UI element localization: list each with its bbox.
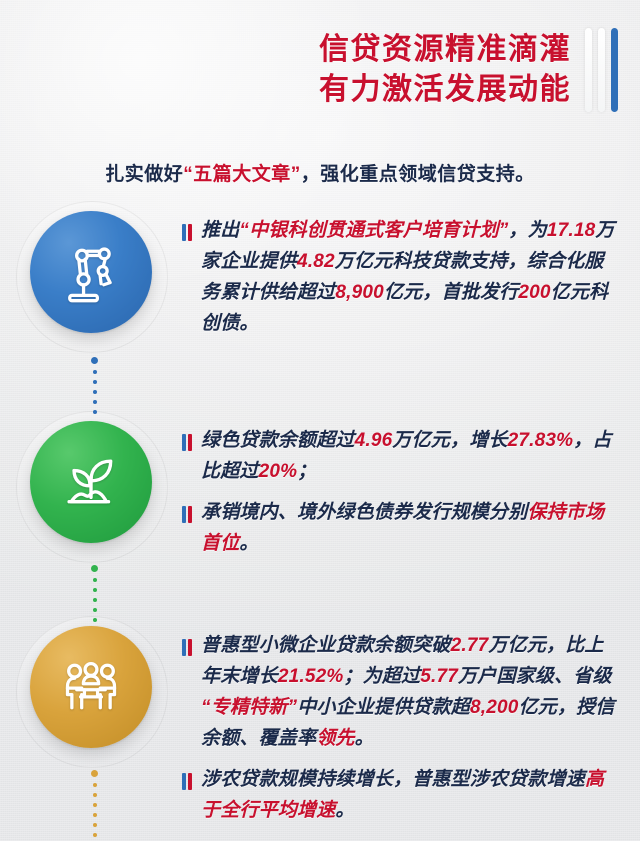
connector-dot — [93, 588, 97, 592]
text-plain: 推出 — [201, 220, 239, 241]
title-block: 信贷资源精准滴灌 有力激活发展动能 — [319, 30, 571, 110]
connector-tech — [91, 357, 98, 420]
title-accent-bars — [585, 28, 622, 112]
text-highlight: 200 — [518, 282, 550, 303]
connector-dot — [93, 400, 97, 404]
connector-dot — [93, 783, 97, 787]
infographic-poster: 信贷资源精准滴灌 有力激活发展动能 扎实做好“五篇大文章”，强化重点领域信贷支持… — [0, 0, 640, 841]
subtitle-highlight: “五篇大文章” — [183, 164, 301, 185]
connector-dot — [93, 578, 97, 582]
medallion-technology — [30, 211, 152, 333]
bullet-marker-blue — [182, 639, 186, 656]
section-green: 绿色贷款余额超过4.96万亿元，增长27.83%，占比超过20%； 承销境内、境… — [0, 415, 640, 559]
medal-wrap-technology — [0, 205, 182, 333]
medal-wrap-inclusive — [0, 620, 182, 748]
text-highlight: “中银科创贯通式客户培育计划” — [239, 220, 508, 241]
bullet-marker — [182, 773, 192, 790]
text-highlight: 4.96 — [355, 430, 393, 451]
connector-dot — [91, 770, 98, 777]
text-plain: 万户国家级、省级 — [458, 666, 612, 687]
bullet-item: 普惠型小微企业贷款余额突破2.77万亿元，比上年末增长21.52%；为超过5.7… — [182, 630, 622, 754]
timeline: 推出“中银科创贯通式客户培育计划”，为17.18万家企业提供4.82万亿元科技贷… — [0, 205, 640, 841]
bullet-text: 推出“中银科创贯通式客户培育计划”，为17.18万家企业提供4.82万亿元科技贷… — [201, 215, 622, 339]
bullet-text: 承销境内、境外绿色债券发行规模分别保持市场首位。 — [201, 497, 622, 559]
bullet-item: 推出“中银科创贯通式客户培育计划”，为17.18万家企业提供4.82万亿元科技贷… — [182, 215, 622, 339]
bar-light-1 — [585, 28, 592, 112]
bullet-text: 绿色贷款余额超过4.96万亿元，增长27.83%，占比超过20%； — [201, 425, 622, 487]
bullet-marker — [182, 506, 192, 523]
text-plain: 万亿元，增长 — [392, 430, 507, 451]
bullet-text: 涉农贷款规模持续增长，普惠型涉农贷款增速高于全行平均增速。 — [201, 764, 622, 826]
bullet-marker-blue — [182, 773, 186, 790]
title-line-1: 信贷资源精准滴灌 — [319, 30, 571, 70]
content-technology: 推出“中银科创贯通式客户培育计划”，为17.18万家企业提供4.82万亿元科技贷… — [182, 205, 640, 339]
text-plain: 承销境内、境外绿色债券发行规模分别 — [201, 502, 527, 523]
text-plain: 普惠型小微企业贷款余额突破 — [201, 635, 451, 656]
text-plain: ，为 — [508, 220, 546, 241]
content-green: 绿色贷款余额超过4.96万亿元，增长27.83%，占比超过20%； 承销境内、境… — [182, 415, 640, 559]
text-plain: 亿元，首批发行 — [384, 282, 518, 303]
subtitle: 扎实做好“五篇大文章”，强化重点领域信贷支持。 — [0, 160, 640, 190]
bullet-marker-red — [188, 506, 192, 523]
bullet-marker-blue — [182, 506, 186, 523]
connector-dot — [93, 833, 97, 837]
connector-dot — [93, 803, 97, 807]
bullet-text: 普惠型小微企业贷款余额突破2.77万亿元，比上年末增长21.52%；为超过5.7… — [201, 630, 622, 754]
connector-dot — [93, 813, 97, 817]
bullet-marker-blue — [182, 224, 186, 241]
sprout-icon — [56, 447, 126, 517]
subtitle-prefix: 扎实做好 — [105, 164, 183, 185]
connector-gold — [91, 770, 98, 841]
text-highlight: 领先 — [316, 728, 354, 749]
connector-dot — [91, 357, 98, 364]
connector-dot — [93, 370, 97, 374]
text-highlight: 20% — [259, 461, 298, 482]
medal-wrap-green — [0, 415, 182, 543]
bullet-marker-blue — [182, 434, 186, 451]
subtitle-suffix: ，强化重点领域信贷支持。 — [301, 164, 535, 185]
people-around-table-icon — [56, 652, 126, 722]
connector-dot — [93, 823, 97, 827]
bullet-marker — [182, 224, 192, 241]
text-plain: 。 — [239, 533, 258, 554]
text-highlight: 17.18 — [547, 220, 596, 241]
bar-light-2 — [598, 28, 605, 112]
connector-dot — [93, 380, 97, 384]
bullet-item: 涉农贷款规模持续增长，普惠型涉农贷款增速高于全行平均增速。 — [182, 764, 622, 826]
text-highlight: 8,200 — [470, 697, 519, 718]
text-plain: 中小企业提供贷款超 — [297, 697, 470, 718]
bullet-marker-red — [188, 773, 192, 790]
text-plain: ；为超过 — [343, 666, 420, 687]
connector-dot — [91, 565, 98, 572]
text-plain: 。 — [355, 728, 374, 749]
connector-green — [91, 565, 98, 628]
bar-accent — [611, 28, 618, 112]
connector-dot — [93, 618, 97, 622]
bullet-item: 承销境内、境外绿色债券发行规模分别保持市场首位。 — [182, 497, 622, 559]
text-highlight: 21.52% — [278, 666, 344, 687]
text-highlight: “专精特新” — [201, 697, 297, 718]
connector-dot — [93, 598, 97, 602]
poster-header: 信贷资源精准滴灌 有力激活发展动能 — [319, 28, 622, 112]
bullet-marker-red — [188, 639, 192, 656]
medallion-inclusive — [30, 626, 152, 748]
text-highlight: 8,900 — [335, 282, 384, 303]
section-technology: 推出“中银科创贯通式客户培育计划”，为17.18万家企业提供4.82万亿元科技贷… — [0, 205, 640, 339]
text-plain: 。 — [335, 800, 354, 821]
text-highlight: 2.77 — [451, 635, 489, 656]
text-plain: ； — [297, 461, 316, 482]
bullet-marker — [182, 434, 192, 451]
medallion-green — [30, 421, 152, 543]
bullet-marker-red — [188, 224, 192, 241]
bullet-marker — [182, 639, 192, 656]
connector-dot — [93, 410, 97, 414]
text-plain: 涉农贷款规模持续增长，普惠型涉农贷款增速 — [201, 769, 585, 790]
content-inclusive: 普惠型小微企业贷款余额突破2.77万亿元，比上年末增长21.52%；为超过5.7… — [182, 620, 640, 826]
text-highlight: 27.83% — [508, 430, 574, 451]
connector-dot — [93, 793, 97, 797]
connector-dot — [93, 390, 97, 394]
text-highlight: 5.77 — [420, 666, 458, 687]
bullet-marker-red — [188, 434, 192, 451]
text-plain: 绿色贷款余额超过 — [201, 430, 355, 451]
robot-arm-icon — [57, 238, 125, 306]
title-line-2: 有力激活发展动能 — [319, 70, 571, 110]
text-highlight: 4.82 — [297, 251, 335, 272]
bullet-item: 绿色贷款余额超过4.96万亿元，增长27.83%，占比超过20%； — [182, 425, 622, 487]
connector-dot — [93, 608, 97, 612]
